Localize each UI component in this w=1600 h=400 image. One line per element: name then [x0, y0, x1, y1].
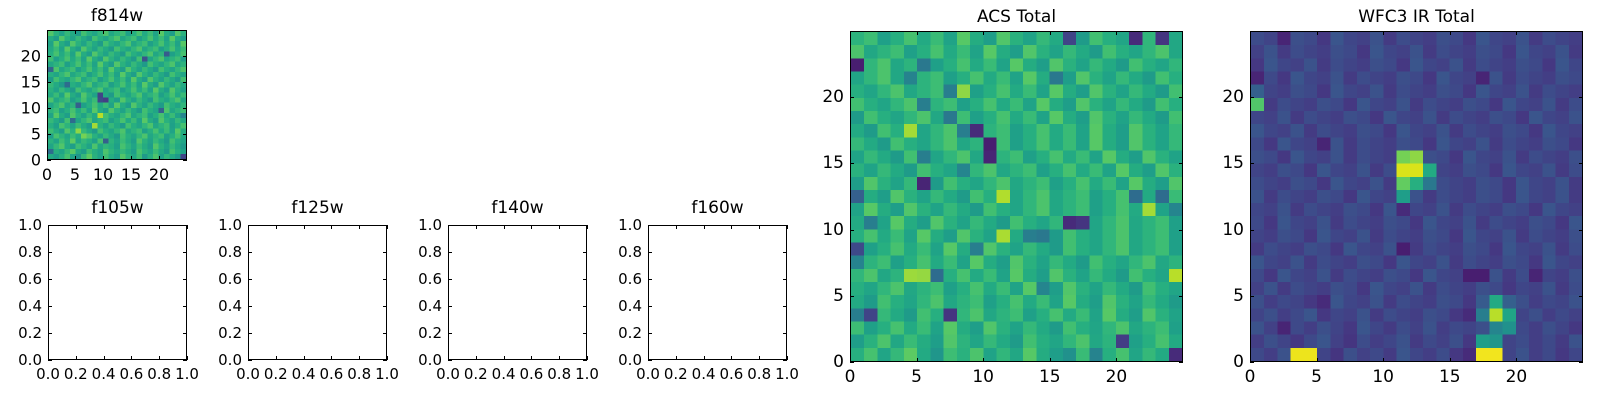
ytick-right-f160w-1 [783, 333, 787, 334]
xticklabel-wfc3-ir-total-3: 15 [1439, 367, 1461, 387]
xtick-top-f160w-3 [731, 225, 732, 229]
yticklabel-f105w-5: 1.0 [0, 216, 42, 234]
xtick-f160w-3 [731, 356, 732, 360]
yticklabel-f105w-0: 0.0 [0, 351, 42, 369]
ytick-f125w-2 [248, 306, 252, 307]
xtick-top-f125w-4 [359, 225, 360, 229]
yticklabel-wfc3-ir-total-3: 15 [1190, 153, 1244, 173]
ytick-f105w-5 [48, 225, 52, 226]
ytick-right-f814w-4 [183, 56, 187, 57]
ytick-f140w-3 [448, 279, 452, 280]
xticklabel-f140w-2: 0.4 [492, 365, 516, 383]
xtick-top-wfc3-ir-total-2 [1383, 31, 1384, 35]
yticklabel-f105w-1: 0.2 [0, 324, 42, 342]
xtick-top-f160w-4 [759, 225, 760, 229]
ytick-right-f105w-4 [183, 252, 187, 253]
yticklabel-f160w-3: 0.6 [588, 270, 642, 288]
xtick-f125w-3 [331, 356, 332, 360]
yticklabel-f125w-3: 0.6 [188, 270, 242, 288]
panel-title-f160w: f160w [648, 198, 787, 218]
yticklabel-acs-total-0: 0 [790, 352, 844, 372]
yticklabel-f814w-0: 0 [0, 151, 41, 170]
ytick-f125w-3 [248, 279, 252, 280]
xtick-top-acs-total-1 [917, 31, 918, 35]
ytick-right-f105w-5 [183, 225, 187, 226]
xtick-top-f125w-3 [331, 225, 332, 229]
ytick-wfc3-ir-total-2 [1250, 230, 1254, 231]
xtick-top-f814w-0 [47, 30, 48, 34]
xtick-top-f105w-2 [104, 225, 105, 229]
yticklabel-f140w-5: 1.0 [388, 216, 442, 234]
ytick-right-f140w-5 [583, 225, 587, 226]
ytick-acs-total-4 [850, 97, 854, 98]
xtick-top-f160w-1 [676, 225, 677, 229]
ytick-f140w-2 [448, 306, 452, 307]
xticklabel-f160w-2: 0.4 [692, 365, 716, 383]
ytick-right-f160w-0 [783, 360, 787, 361]
yticklabel-wfc3-ir-total-2: 10 [1190, 220, 1244, 240]
xticklabel-acs-total-4: 20 [1106, 367, 1128, 387]
xtick-f160w-5 [787, 356, 788, 360]
yticklabel-f125w-5: 1.0 [188, 216, 242, 234]
yticklabel-f140w-1: 0.2 [388, 324, 442, 342]
xticklabel-f105w-4: 0.8 [147, 365, 171, 383]
yticklabel-f105w-3: 0.6 [0, 270, 42, 288]
xtick-f814w-4 [159, 156, 160, 160]
xtick-top-f125w-1 [276, 225, 277, 229]
ytick-right-f140w-2 [583, 306, 587, 307]
ytick-right-f105w-0 [183, 360, 187, 361]
yticklabel-f140w-2: 0.4 [388, 297, 442, 315]
ytick-f125w-4 [248, 252, 252, 253]
axes-acs-total [850, 31, 1183, 362]
ytick-acs-total-3 [850, 163, 854, 164]
xtick-f140w-3 [531, 356, 532, 360]
xticklabel-wfc3-ir-total-1: 5 [1311, 367, 1322, 387]
xticklabel-wfc3-ir-total-2: 10 [1372, 367, 1394, 387]
ytick-f140w-4 [448, 252, 452, 253]
xticklabel-acs-total-0: 0 [845, 367, 856, 387]
ytick-right-f814w-3 [183, 82, 187, 83]
xticklabel-acs-total-1: 5 [911, 367, 922, 387]
ytick-acs-total-2 [850, 230, 854, 231]
xticklabel-f160w-4: 0.8 [747, 365, 771, 383]
xtick-f125w-4 [359, 356, 360, 360]
xticklabel-acs-total-2: 10 [972, 367, 994, 387]
xticklabel-f140w-4: 0.8 [547, 365, 571, 383]
yticklabel-f140w-4: 0.8 [388, 243, 442, 261]
xticklabel-f814w-1: 5 [70, 165, 80, 184]
xtick-f140w-4 [559, 356, 560, 360]
yticklabel-wfc3-ir-total-1: 5 [1190, 286, 1244, 306]
xtick-wfc3-ir-total-3 [1450, 358, 1451, 362]
ytick-f160w-5 [648, 225, 652, 226]
ytick-f814w-1 [47, 134, 51, 135]
xtick-f105w-3 [131, 356, 132, 360]
ytick-right-wfc3-ir-total-4 [1579, 97, 1583, 98]
ytick-right-f105w-2 [183, 306, 187, 307]
xtick-f125w-2 [304, 356, 305, 360]
axes-f125w [248, 225, 387, 360]
ytick-f160w-4 [648, 252, 652, 253]
ytick-f160w-2 [648, 306, 652, 307]
xticklabel-f105w-1: 0.2 [64, 365, 88, 383]
ytick-f140w-5 [448, 225, 452, 226]
axes-f105w [48, 225, 187, 360]
yticklabel-f814w-2: 10 [0, 99, 41, 118]
yticklabel-f160w-5: 1.0 [588, 216, 642, 234]
xtick-acs-total-3 [1050, 358, 1051, 362]
ytick-f160w-3 [648, 279, 652, 280]
xtick-top-f140w-4 [559, 225, 560, 229]
xticklabel-f814w-0: 0 [42, 165, 52, 184]
xtick-f140w-2 [504, 356, 505, 360]
axes-f160w [648, 225, 787, 360]
xtick-top-f105w-3 [131, 225, 132, 229]
ytick-right-f140w-4 [583, 252, 587, 253]
heatmap-wfc3-ir-total [1251, 32, 1582, 361]
xtick-top-f160w-5 [787, 225, 788, 229]
ytick-f814w-2 [47, 108, 51, 109]
xtick-top-f105w-4 [159, 225, 160, 229]
xtick-top-wfc3-ir-total-3 [1450, 31, 1451, 35]
yticklabel-f160w-1: 0.2 [588, 324, 642, 342]
xticklabel-f105w-3: 0.6 [119, 365, 143, 383]
xticklabel-f140w-3: 0.6 [519, 365, 543, 383]
yticklabel-f125w-4: 0.8 [188, 243, 242, 261]
ytick-right-acs-total-0 [1179, 362, 1183, 363]
xtick-acs-total-2 [983, 358, 984, 362]
ytick-f140w-0 [448, 360, 452, 361]
ytick-right-f814w-2 [183, 108, 187, 109]
xtick-f814w-2 [103, 156, 104, 160]
xticklabel-acs-total-3: 15 [1039, 367, 1061, 387]
yticklabel-f814w-3: 15 [0, 73, 41, 92]
yticklabel-f160w-4: 0.8 [588, 243, 642, 261]
ytick-wfc3-ir-total-4 [1250, 97, 1254, 98]
yticklabel-f160w-0: 0.0 [588, 351, 642, 369]
xtick-top-acs-total-4 [1116, 31, 1117, 35]
ytick-f105w-3 [48, 279, 52, 280]
xtick-top-f140w-1 [476, 225, 477, 229]
xtick-f125w-1 [276, 356, 277, 360]
yticklabel-wfc3-ir-total-0: 0 [1190, 352, 1244, 372]
ytick-wfc3-ir-total-3 [1250, 163, 1254, 164]
ytick-f125w-0 [248, 360, 252, 361]
panel-title-f105w: f105w [48, 198, 187, 218]
yticklabel-f105w-4: 0.8 [0, 243, 42, 261]
ytick-right-f125w-3 [383, 279, 387, 280]
xtick-wfc3-ir-total-1 [1317, 358, 1318, 362]
ytick-right-acs-total-3 [1179, 163, 1183, 164]
xtick-top-wfc3-ir-total-0 [1250, 31, 1251, 35]
heatmap-acs-total [851, 32, 1182, 361]
xtick-acs-total-4 [1116, 358, 1117, 362]
ytick-f125w-1 [248, 333, 252, 334]
xtick-top-f814w-3 [131, 30, 132, 34]
ytick-f814w-3 [47, 82, 51, 83]
xtick-f160w-2 [704, 356, 705, 360]
xtick-f814w-1 [75, 156, 76, 160]
ytick-right-wfc3-ir-total-1 [1579, 296, 1583, 297]
yticklabel-acs-total-4: 20 [790, 87, 844, 107]
yticklabel-acs-total-2: 10 [790, 220, 844, 240]
ytick-right-f160w-5 [783, 225, 787, 226]
ytick-right-f125w-2 [383, 306, 387, 307]
xtick-f140w-1 [476, 356, 477, 360]
ytick-right-f105w-1 [183, 333, 187, 334]
xtick-top-f140w-3 [531, 225, 532, 229]
yticklabel-f125w-0: 0.0 [188, 351, 242, 369]
xticklabel-f814w-2: 10 [93, 165, 113, 184]
ytick-f105w-2 [48, 306, 52, 307]
xtick-top-f814w-1 [75, 30, 76, 34]
ytick-right-acs-total-1 [1179, 296, 1183, 297]
yticklabel-acs-total-3: 15 [790, 153, 844, 173]
xtick-top-acs-total-0 [850, 31, 851, 35]
xtick-acs-total-1 [917, 358, 918, 362]
ytick-right-f140w-1 [583, 333, 587, 334]
ytick-acs-total-1 [850, 296, 854, 297]
xticklabel-f125w-2: 0.4 [292, 365, 316, 383]
yticklabel-f160w-2: 0.4 [588, 297, 642, 315]
ytick-right-f140w-0 [583, 360, 587, 361]
ytick-right-f814w-0 [183, 160, 187, 161]
xticklabel-f105w-2: 0.4 [92, 365, 116, 383]
matplotlib-figure: f814w0510152005101520f105w0.00.20.40.60.… [0, 0, 1600, 400]
ytick-right-f140w-3 [583, 279, 587, 280]
ytick-right-f814w-1 [183, 134, 187, 135]
ytick-f105w-0 [48, 360, 52, 361]
ytick-right-f160w-4 [783, 252, 787, 253]
ytick-wfc3-ir-total-0 [1250, 362, 1254, 363]
xtick-top-f160w-2 [704, 225, 705, 229]
yticklabel-f814w-4: 20 [0, 47, 41, 66]
ytick-right-acs-total-4 [1179, 97, 1183, 98]
xtick-top-f105w-1 [76, 225, 77, 229]
ytick-right-f160w-3 [783, 279, 787, 280]
xticklabel-f125w-4: 0.8 [347, 365, 371, 383]
xtick-top-f125w-2 [304, 225, 305, 229]
xtick-wfc3-ir-total-4 [1516, 358, 1517, 362]
axes-wfc3-ir-total [1250, 31, 1583, 362]
ytick-right-acs-total-2 [1179, 230, 1183, 231]
panel-title-f814w: f814w [47, 6, 187, 26]
xtick-top-f814w-4 [159, 30, 160, 34]
ytick-right-wfc3-ir-total-3 [1579, 163, 1583, 164]
ytick-right-f125w-1 [383, 333, 387, 334]
ytick-right-f160w-2 [783, 306, 787, 307]
ytick-wfc3-ir-total-1 [1250, 296, 1254, 297]
ytick-acs-total-0 [850, 362, 854, 363]
panel-title-f140w: f140w [448, 198, 587, 218]
ytick-f814w-4 [47, 56, 51, 57]
yticklabel-wfc3-ir-total-4: 20 [1190, 87, 1244, 107]
xtick-f105w-2 [104, 356, 105, 360]
ytick-f105w-4 [48, 252, 52, 253]
xtick-wfc3-ir-total-2 [1383, 358, 1384, 362]
ytick-right-f125w-5 [383, 225, 387, 226]
yticklabel-f140w-0: 0.0 [388, 351, 442, 369]
panel-title-f125w: f125w [248, 198, 387, 218]
ytick-f160w-0 [648, 360, 652, 361]
xticklabel-f125w-1: 0.2 [264, 365, 288, 383]
ytick-f160w-1 [648, 333, 652, 334]
xticklabel-f814w-3: 15 [121, 165, 141, 184]
yticklabel-f125w-1: 0.2 [188, 324, 242, 342]
xtick-f160w-4 [759, 356, 760, 360]
xtick-f814w-3 [131, 156, 132, 160]
ytick-right-f105w-3 [183, 279, 187, 280]
panel-title-acs-total: ACS Total [850, 7, 1183, 27]
axes-f814w [47, 30, 187, 160]
xticklabel-wfc3-ir-total-0: 0 [1245, 367, 1256, 387]
ytick-f140w-1 [448, 333, 452, 334]
ytick-right-f125w-4 [383, 252, 387, 253]
ytick-right-wfc3-ir-total-0 [1579, 362, 1583, 363]
xticklabel-f140w-1: 0.2 [464, 365, 488, 383]
xtick-top-acs-total-3 [1050, 31, 1051, 35]
panel-title-wfc3-ir-total: WFC3 IR Total [1250, 7, 1583, 27]
yticklabel-f814w-1: 5 [0, 125, 41, 144]
xtick-top-wfc3-ir-total-1 [1317, 31, 1318, 35]
yticklabel-acs-total-1: 5 [790, 286, 844, 306]
axes-f140w [448, 225, 587, 360]
xtick-top-wfc3-ir-total-4 [1516, 31, 1517, 35]
yticklabel-f125w-2: 0.4 [188, 297, 242, 315]
yticklabel-f105w-2: 0.4 [0, 297, 42, 315]
xticklabel-f160w-3: 0.6 [719, 365, 743, 383]
ytick-f814w-0 [47, 160, 51, 161]
yticklabel-f140w-3: 0.6 [388, 270, 442, 288]
xticklabel-wfc3-ir-total-4: 20 [1506, 367, 1528, 387]
ytick-f105w-1 [48, 333, 52, 334]
xtick-f160w-1 [676, 356, 677, 360]
xticklabel-f160w-1: 0.2 [664, 365, 688, 383]
xtick-f105w-1 [76, 356, 77, 360]
heatmap-f814w [48, 31, 186, 159]
xtick-top-acs-total-2 [983, 31, 984, 35]
xtick-top-f814w-2 [103, 30, 104, 34]
ytick-f125w-5 [248, 225, 252, 226]
xticklabel-f814w-4: 20 [149, 165, 169, 184]
xtick-top-f140w-2 [504, 225, 505, 229]
xtick-f105w-4 [159, 356, 160, 360]
xticklabel-f125w-3: 0.6 [319, 365, 343, 383]
ytick-right-f125w-0 [383, 360, 387, 361]
ytick-right-wfc3-ir-total-2 [1579, 230, 1583, 231]
